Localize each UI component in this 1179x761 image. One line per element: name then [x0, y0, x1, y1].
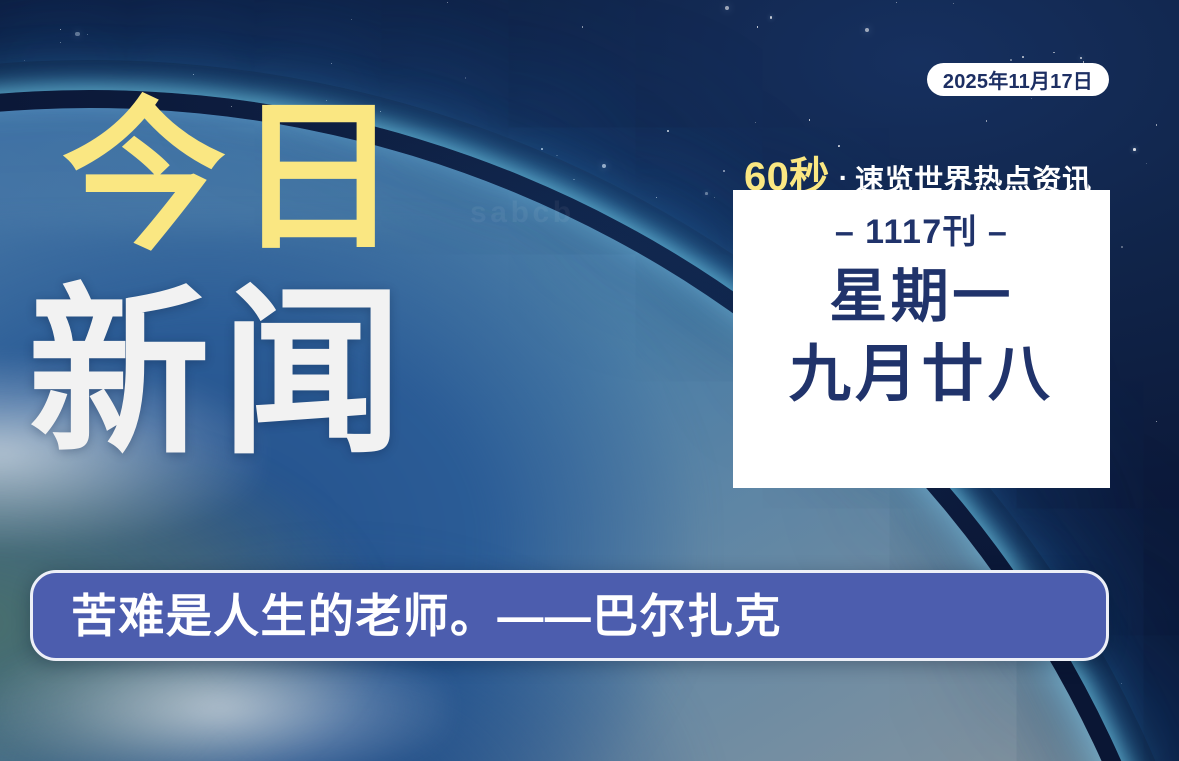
poster-title-line2: 新闻	[28, 282, 414, 464]
date-badge: 2025年11月17日	[927, 63, 1109, 96]
quote-text: 苦难是人生的老师。——巴尔扎克	[71, 593, 782, 639]
issue-dash-right-icon: –	[988, 213, 1008, 251]
background-watermark: sabcb	[470, 196, 575, 230]
issue-dash-left-icon: –	[835, 213, 855, 251]
weekday-label: 星期一	[829, 267, 1013, 328]
poster-title-line1: 今日	[62, 96, 410, 260]
issue-number: 1117刊	[865, 213, 978, 251]
issue-info-card: –1117刊– 星期一 九月廿八	[733, 190, 1110, 488]
lunar-date-label: 九月廿八	[789, 342, 1054, 407]
quote-bar: 苦难是人生的老师。——巴尔扎克	[30, 570, 1109, 661]
news-poster: sabcb 今日 新闻 2025年11月17日 60秒 · 速览世界热点资讯 –…	[0, 0, 1179, 761]
issue-number-row: –1117刊–	[825, 204, 1018, 253]
